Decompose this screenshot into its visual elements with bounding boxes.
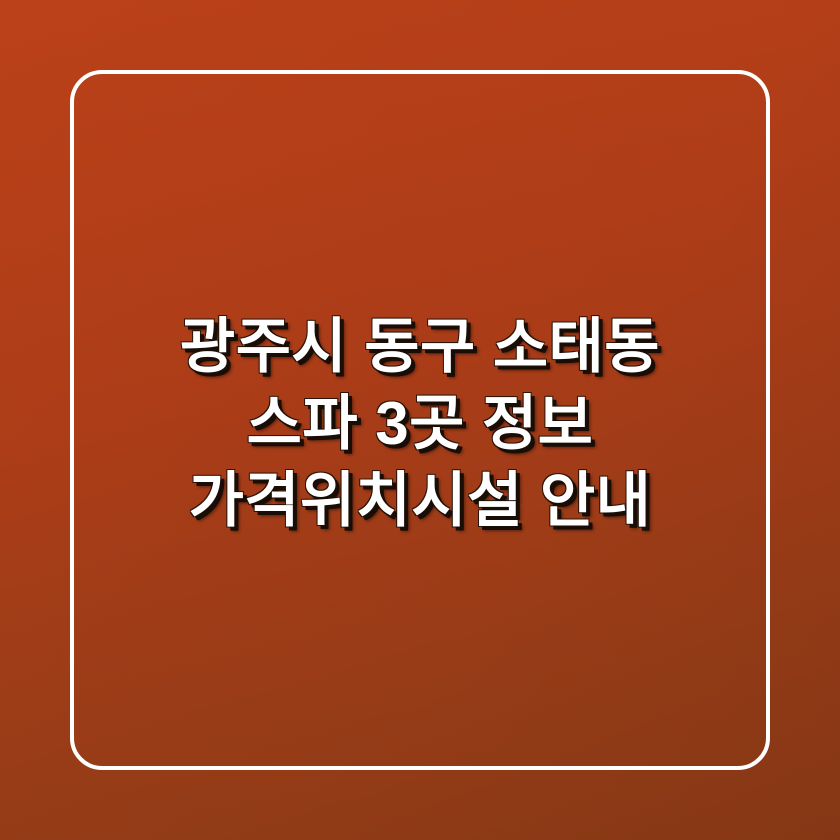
title-line-1: 광주시 동구 소태동 (0, 308, 840, 385)
title-block: 광주시 동구 소태동 스파 3곳 정보 가격위치시설 안내 (0, 0, 840, 840)
title-line-3: 가격위치시설 안내 (0, 462, 840, 539)
title-line-2: 스파 3곳 정보 (0, 385, 840, 462)
poster-canvas: 광주시 동구 소태동 스파 3곳 정보 가격위치시설 안내 (0, 0, 840, 840)
